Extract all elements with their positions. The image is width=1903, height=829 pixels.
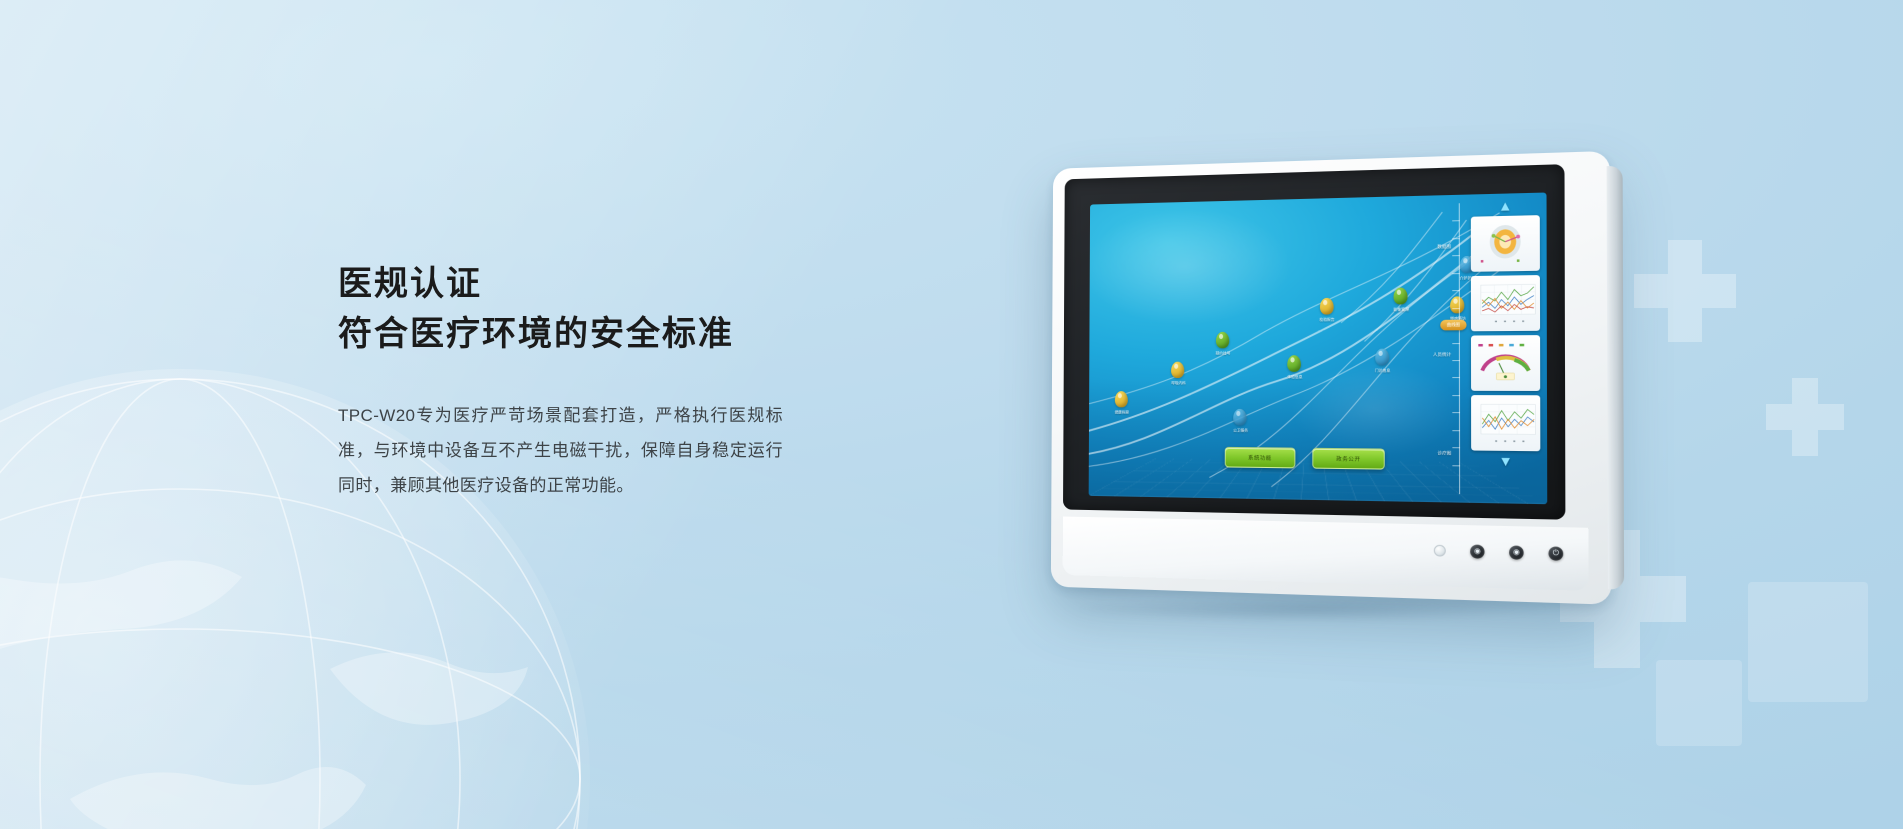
hardware-button-group: ◉ ◉ ⏻ xyxy=(1434,544,1563,561)
map-pin-体检信息[interactable]: 体检信息 xyxy=(1288,355,1302,379)
system-function-button[interactable]: 系统功能 xyxy=(1225,447,1296,469)
map-pin-公卫服务[interactable]: 公卫服务 xyxy=(1233,409,1246,433)
map-pin-label: 影像管理 xyxy=(1375,307,1427,312)
map-pin-检验报告[interactable]: 检验报告 xyxy=(1320,298,1334,323)
map-pin-label: 门诊信息 xyxy=(1357,369,1409,374)
screen-action-buttons: 系统功能 政务公开 xyxy=(1225,447,1385,470)
hero-copy: 医规认证 符合医疗环境的安全标准 TPC-W20专为医疗严苛场景配套打造，严格执… xyxy=(338,262,808,521)
public-affairs-button[interactable]: 政务公开 xyxy=(1312,448,1385,470)
device-screen[interactable]: 健康档案 呼吸内科 预约挂号 公卫服务 体检信息 检验报告 门诊 xyxy=(1089,192,1548,504)
power-led xyxy=(1434,545,1446,557)
brightness-up-button[interactable]: ◉ xyxy=(1509,545,1524,559)
map-pin-label: 健康档案 xyxy=(1098,410,1146,415)
device-panel-pc: 健康档案 呼吸内科 预约挂号 公卫服务 体检信息 检验报告 门诊 xyxy=(1051,151,1612,605)
thumbnail-sidebar: ▲ xyxy=(1471,199,1541,498)
hero-banner: 医规认证 符合医疗环境的安全标准 TPC-W20专为医疗严苛场景配套打造，严格执… xyxy=(0,0,1903,829)
brightness-down-button[interactable]: ◉ xyxy=(1470,544,1484,558)
device-bezel: 健康档案 呼吸内科 预约挂号 公卫服务 体检信息 检验报告 门诊 xyxy=(1063,164,1565,520)
map-pin-label: 预约挂号 xyxy=(1198,351,1247,356)
map-pin-影像管理[interactable]: 影像管理 xyxy=(1394,288,1408,313)
map-pin-预约挂号[interactable]: 预约挂号 xyxy=(1216,331,1229,355)
map-pin-label: 公卫服务 xyxy=(1216,428,1266,433)
page-title: 医规认证 xyxy=(338,262,808,308)
power-button[interactable]: ⏻ xyxy=(1548,546,1563,560)
map-pin-label: 呼吸内科 xyxy=(1154,381,1203,386)
gauge-meter-thumb[interactable] xyxy=(1471,335,1540,391)
page-subtitle: 符合医疗环境的安全标准 xyxy=(338,312,808,358)
axis-label-诊疗图: 诊疗图 xyxy=(1437,450,1451,457)
device-side-edge xyxy=(1607,166,1625,590)
gauge-donut-thumb[interactable] xyxy=(1471,215,1540,272)
axis-label-数据图: 数据图 xyxy=(1437,244,1451,251)
map-pin-label: 体检信息 xyxy=(1270,375,1320,380)
axis-label-人员统计: 人员统计 xyxy=(1433,351,1451,357)
chevron-down-icon[interactable]: ▼ xyxy=(1471,455,1540,468)
axis-badge-曲线图[interactable]: 曲线图 xyxy=(1440,320,1466,331)
map-pin-呼吸内科[interactable]: 呼吸内科 xyxy=(1171,361,1184,385)
map-pin-健康档案[interactable]: 健康档案 xyxy=(1115,391,1128,415)
map-pin-label: 检验报告 xyxy=(1302,317,1353,322)
line-chart-thumb-2[interactable] xyxy=(1471,395,1540,451)
chevron-up-icon[interactable]: ▲ xyxy=(1471,199,1540,212)
map-pin-门诊信息[interactable]: 门诊信息 xyxy=(1375,349,1389,374)
line-chart-thumb-1[interactable] xyxy=(1471,275,1540,331)
body-paragraph: TPC-W20专为医疗严苛场景配套打造，严格执行医规标准，与环境中设备互不产生电… xyxy=(338,399,783,504)
